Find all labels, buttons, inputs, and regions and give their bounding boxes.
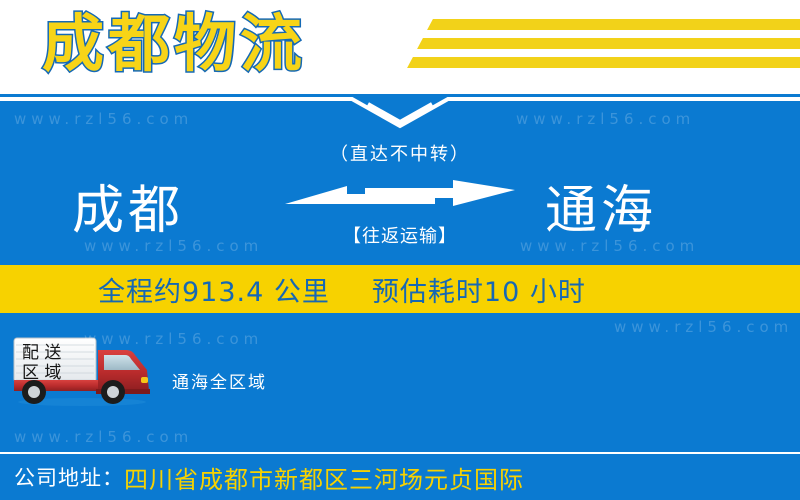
page-title: 成都物流 — [42, 4, 306, 84]
address-label: 公司地址： — [14, 462, 124, 492]
watermark: www.rzl56.com — [14, 428, 193, 446]
watermark: www.rzl56.com — [614, 318, 793, 336]
roundtrip-note: 【往返运输】 — [280, 222, 520, 248]
direct-shipping-note: （直达不中转） — [280, 140, 520, 166]
watermark: www.rzl56.com — [84, 330, 263, 348]
destination-city: 通海 — [545, 168, 657, 243]
decorative-stripe-1 — [427, 19, 800, 30]
watermark: www.rzl56.com — [84, 237, 263, 255]
truck-box-label-1: 配 送 — [22, 343, 61, 363]
logistics-banner: 成都物流 成都 通海 （直达不中转） 【往返运输】 全程约913.4 公里 预估… — [0, 0, 800, 500]
origin-city: 成都 — [72, 168, 184, 243]
company-address-bar: 公司地址： 四川省成都市新都区三河场元贞国际 — [0, 454, 800, 500]
watermark: www.rzl56.com — [520, 237, 699, 255]
decorative-stripe-3 — [407, 57, 800, 68]
trip-info-band: 全程约913.4 公里 预估耗时10 小时 — [0, 265, 800, 313]
delivery-area-text: 通海全区域 — [172, 368, 267, 393]
watermark: www.rzl56.com — [14, 110, 193, 128]
double-arrow-icon — [285, 180, 515, 214]
watermark: www.rzl56.com — [516, 110, 695, 128]
duration-value: 预估耗时10 小时 — [372, 270, 586, 309]
address-value: 四川省成都市新都区三河场元贞国际 — [124, 460, 524, 495]
decorative-stripe-2 — [417, 38, 800, 49]
distance-value: 全程约913.4 公里 — [98, 270, 330, 309]
banner-header: 成都物流 — [0, 0, 800, 94]
